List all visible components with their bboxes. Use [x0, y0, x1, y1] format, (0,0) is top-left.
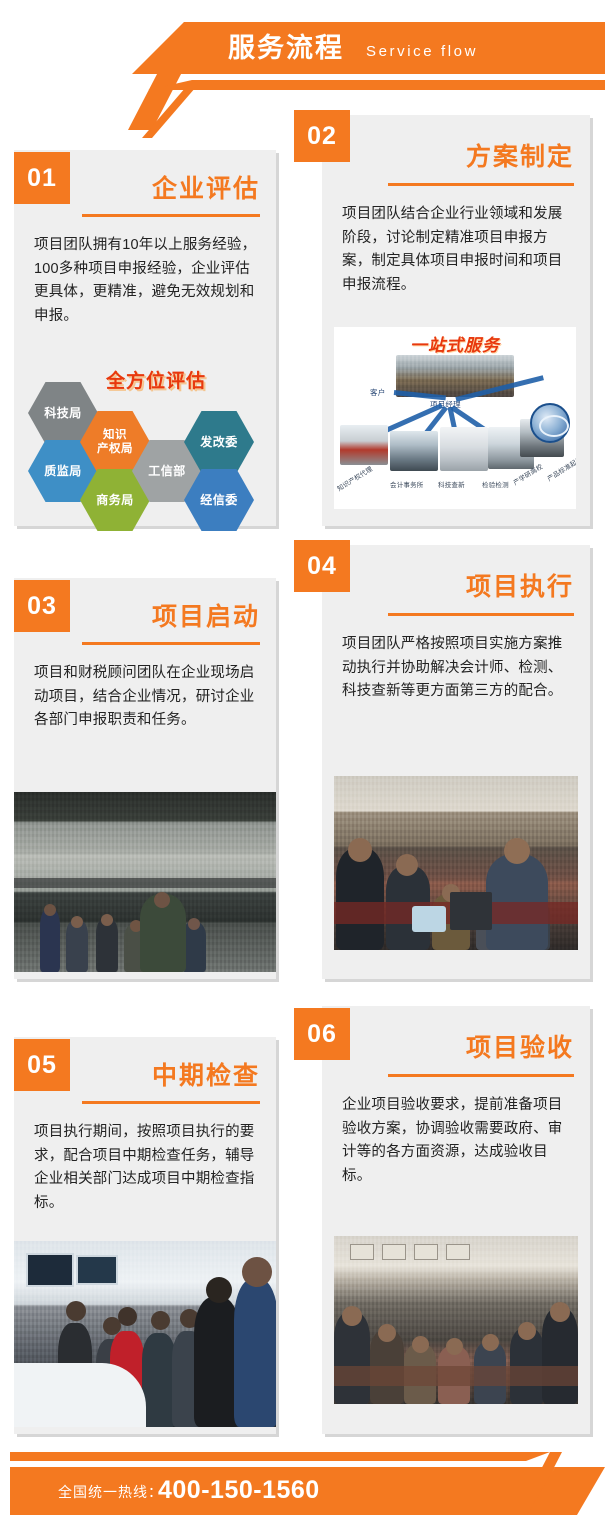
one-stop-service-title: 一站式服务	[410, 331, 500, 356]
card-05-title-rule	[82, 1101, 260, 1104]
hexagon-diagram: 全方位评估 科技局 质监局 知识 产权局 商务局 工信部 发改委 经信委	[22, 362, 272, 520]
hex-label: 经信委	[200, 493, 238, 507]
hotline-number[interactable]: 400-150-1560	[158, 1473, 320, 1507]
card-06-title-rule	[388, 1074, 574, 1077]
card-02-number-badge: 02	[294, 110, 350, 162]
oss-label-accounting: 会计事务所	[390, 479, 424, 489]
card-02-title-rule	[388, 183, 574, 186]
card-03-body: 项目和财税顾问团队在企业现场启动项目，结合企业情况，研讨企业各部门申报职责和任务…	[34, 662, 260, 733]
page-title: 服务流程	[228, 30, 344, 66]
card-05-number-badge: 05	[14, 1039, 70, 1091]
card-01: 企业评估 项目团队拥有10年以上服务经验，100多种项目申报经验，企业评估更具体…	[14, 150, 276, 526]
card-01-body: 项目团队拥有10年以上服务经验，100多种项目申报经验，企业评估更具体，更精准，…	[34, 234, 260, 328]
card-03-title: 项目启动	[152, 600, 260, 634]
card-02-body: 项目团队结合企业行业领域和发展阶段，讨论制定精准项目申报方案，制定具体项目申报时…	[342, 203, 574, 297]
photo-meeting-table	[334, 776, 578, 950]
card-03: 项目启动 项目和财税顾问团队在企业现场启动项目，结合企业情况，研讨企业各部门申报…	[14, 578, 276, 979]
oss-thumb-accounting	[390, 431, 438, 471]
card-01-title: 企业评估	[152, 172, 260, 206]
service-flow-infographic: 服务流程 Service flow 企业评估 项目团队拥有10年以上服务经验，1…	[0, 0, 605, 1538]
card-04-title-rule	[388, 613, 574, 616]
card-05-body: 项目执行期间，按照项目执行的要求，配合项目中期检查任务，辅导企业相关部门达成项目…	[34, 1121, 260, 1215]
oss-label-customer: 客户	[370, 387, 385, 398]
photo-lobby-visit	[14, 1241, 276, 1427]
oss-iso-seal	[530, 403, 570, 443]
oss-label-inspection: 检验检测	[482, 479, 509, 489]
hex-label: 工信部	[148, 464, 186, 478]
card-04-body: 项目团队严格按照项目实施方案推动执行并协助解决会计师、检测、科技查新等更方面第三…	[342, 633, 574, 704]
card-06-title: 项目验收	[466, 1031, 574, 1065]
hex-label: 商务局	[96, 493, 134, 507]
card-02: 方案制定 项目团队结合企业行业领域和发展阶段，讨论制定精准项目申报方案，制定具体…	[322, 115, 590, 526]
hexagon-diagram-title: 全方位评估	[106, 366, 206, 393]
card-03-title-rule	[82, 642, 260, 645]
one-stop-service-diagram: 一站式服务 客户 项目经理 知识产权代理 会计事务所 科技查新	[334, 327, 576, 509]
oss-label-tech-search: 科技查新	[438, 479, 465, 489]
photo-conference-room	[14, 792, 276, 972]
page-footer: 全国统一热线： 400-150-1560	[0, 1452, 605, 1538]
page-subtitle: Service flow	[366, 41, 478, 63]
oss-thumb-tech-search	[440, 427, 488, 471]
hotline-label: 全国统一热线：	[58, 1479, 163, 1505]
card-06-body: 企业项目验收要求，提前准备项目验收方案，协调验收需要政府、审计等的各方面资源，达…	[342, 1094, 574, 1188]
oss-thumb-ip-agency	[340, 425, 388, 465]
card-06-number-badge: 06	[294, 1008, 350, 1060]
card-04: 项目执行 项目团队严格按照项目实施方案推动执行并协助解决会计师、检测、科技查新等…	[322, 545, 590, 979]
header-accent-line	[148, 80, 605, 90]
hex-label: 科技局	[44, 406, 82, 420]
card-01-title-rule	[82, 214, 260, 217]
page-header: 服务流程 Service flow	[0, 0, 605, 118]
card-01-number-badge: 01	[14, 152, 70, 204]
card-04-title: 项目执行	[466, 570, 574, 604]
oss-label-product-standard: 产品标准起草	[545, 453, 576, 483]
card-03-number-badge: 03	[14, 580, 70, 632]
hex-label: 发改委	[200, 435, 238, 449]
hex-label: 质监局	[44, 464, 82, 478]
card-05: 中期检查 项目执行期间，按照项目执行的要求，配合项目中期检查任务，辅导企业相关部…	[14, 1037, 276, 1434]
card-04-number-badge: 04	[294, 540, 350, 592]
photo-acceptance-meeting	[334, 1236, 578, 1404]
footer-accent-line	[10, 1452, 550, 1461]
card-06: 项目验收 企业项目验收要求，提前准备项目验收方案，协调验收需要政府、审计等的各方…	[322, 1006, 590, 1434]
card-02-title: 方案制定	[466, 140, 574, 174]
oss-label-ip-agency: 知识产权代理	[335, 463, 374, 493]
hex-label: 知识 产权局	[97, 428, 133, 456]
card-05-title: 中期检查	[152, 1059, 260, 1093]
